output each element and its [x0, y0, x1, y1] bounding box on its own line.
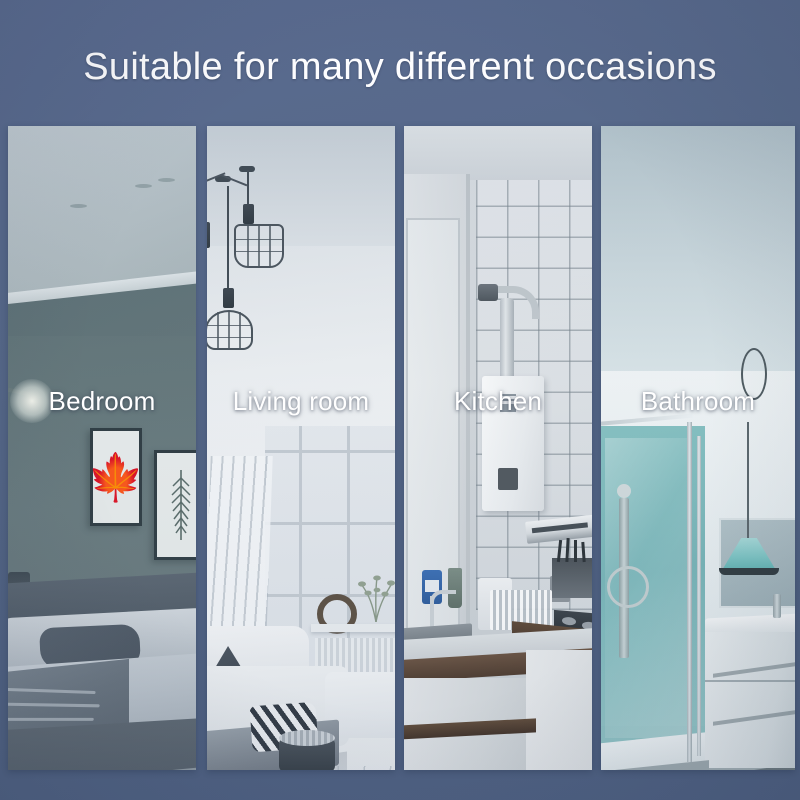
living-room-plant: [353, 566, 395, 622]
bedroom-wall-art-fern: [154, 450, 196, 560]
poster-canvas: Suitable for many different occasions 🍁: [0, 0, 800, 800]
panel-caption-kitchen: Kitchen: [404, 385, 592, 417]
bathroom-tap: [773, 594, 781, 618]
kitchen-scene-image: [404, 126, 592, 770]
scene-panel-bathroom[interactable]: Bathroom: [601, 126, 795, 770]
bathroom-shower-head: [617, 484, 631, 498]
plant-sprig-icon: [353, 566, 395, 622]
kitchen-faucet: [430, 596, 434, 630]
page-title: Suitable for many different occasions: [0, 44, 800, 90]
kitchen-ceiling: [404, 126, 592, 180]
panel-caption-living-room: Living room: [207, 385, 395, 417]
living-room-shelf: [311, 624, 395, 632]
bathroom-shower-frame: [687, 422, 692, 762]
panel-caption-bedroom: Bedroom: [8, 385, 196, 417]
living-room-cage-pendant: [234, 224, 284, 268]
living-room-cage-pendant: [207, 310, 253, 350]
hob-burner-icon: [562, 617, 576, 626]
kitchen-cabinet-right: [526, 650, 592, 770]
living-room-light-socket: [207, 222, 210, 248]
vanity-drawer-line: [705, 680, 795, 682]
bathroom-scene-image: [601, 126, 795, 770]
heater-control-panel: [498, 468, 518, 490]
bedroom-downlight-icon: [70, 204, 87, 208]
scene-panel-bedroom[interactable]: 🍁: [8, 126, 196, 770]
bathroom-pendant-rim: [719, 568, 779, 575]
kitchen-flue-pipe: [500, 298, 514, 380]
kitchen-knife-block: [552, 558, 592, 598]
living-room-light-socket: [223, 288, 234, 308]
range-hood-strip: [532, 522, 588, 533]
bathroom-shower-frame: [697, 436, 701, 756]
living-room-scene-image: [207, 126, 395, 770]
fern-leaf-icon: [170, 468, 192, 542]
living-room-light-drop: [247, 170, 249, 208]
living-room-stool-top: [279, 730, 335, 746]
vanity-drawer-pull: [713, 662, 795, 678]
bedroom-scene-image: 🍁: [8, 126, 196, 770]
vanity-drawer-pull: [713, 710, 795, 726]
scene-panel-living-room[interactable]: Living room: [207, 126, 395, 770]
bedroom-downlight-icon: [158, 178, 175, 182]
living-room-light-socket: [243, 204, 254, 224]
maple-leaf-icon: 🍁: [87, 454, 144, 500]
bathroom-vanity-unit: [705, 632, 795, 768]
bathroom-shower-hose: [607, 566, 649, 608]
panel-caption-bathroom: Bathroom: [601, 385, 795, 417]
kitchen-flue-cap: [478, 284, 498, 301]
living-room-light-drop: [227, 186, 229, 294]
scene-panel-kitchen[interactable]: Kitchen: [404, 126, 592, 770]
bathroom-pendant-cord: [747, 422, 749, 544]
bathroom-ceiling: [601, 126, 795, 376]
bedroom-wall-art-maple: 🍁: [90, 428, 142, 526]
bedroom-downlight-icon: [135, 184, 152, 188]
